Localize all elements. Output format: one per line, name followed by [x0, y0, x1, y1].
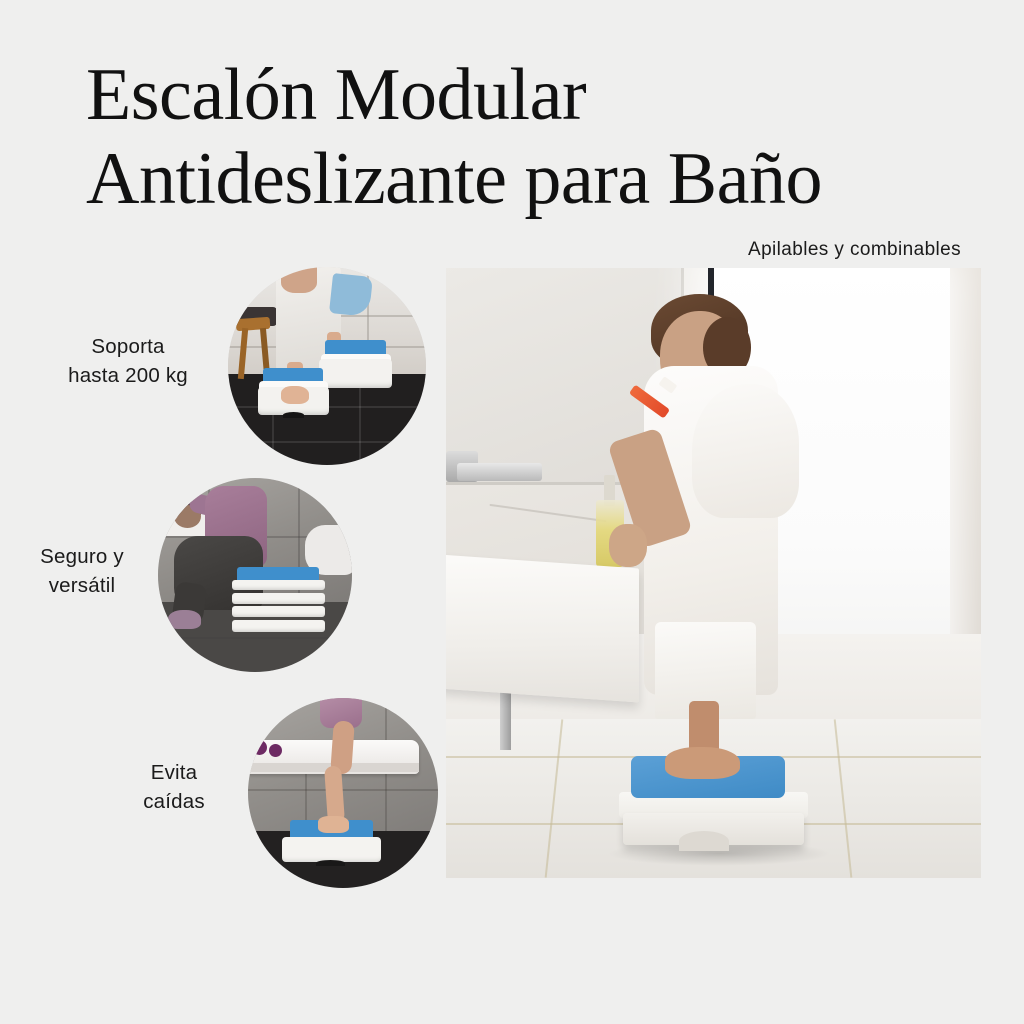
purple-candle [252, 740, 267, 755]
stacked-step-unit [232, 567, 325, 637]
step-base [319, 359, 392, 388]
chrome-faucet [457, 463, 543, 481]
poster-canvas: Escalón Modular Antideslizante para Baño… [0, 0, 1024, 1024]
tagline-apilables: Apilables y combinables [748, 239, 961, 261]
feature-label-evita: Evita caídas [104, 758, 244, 816]
feature-label-seguro: Seguro y versátil [12, 542, 152, 600]
thumb-scene-seated-stack [158, 478, 352, 672]
purple-candle [269, 744, 282, 757]
step-notch [316, 860, 346, 866]
floor-grout-line [228, 441, 426, 443]
child-foot [665, 747, 740, 779]
hero-photo-child-on-step [446, 268, 981, 878]
person-foot [281, 386, 309, 404]
step-notch [283, 412, 304, 418]
person-hand [281, 267, 317, 293]
floor-grout-line [158, 637, 352, 639]
bathrobe-hood [692, 384, 799, 518]
step-tier [232, 606, 325, 616]
feature-thumbnail-seated-stack [158, 478, 352, 672]
thumb-scene-step-into-tub [248, 698, 438, 888]
person-foot [318, 816, 348, 833]
step-notch [679, 831, 729, 852]
child-hand [609, 524, 646, 567]
step-stool-back [319, 338, 392, 389]
vanity-sink [446, 553, 639, 702]
feature-label-soporta: Soporta hasta 200 kg [52, 332, 204, 390]
step-tier [232, 593, 325, 603]
feature-thumbnail-two-steps [228, 267, 426, 465]
feature-thumbnail-step-into-tub [248, 698, 438, 888]
page-title: Escalón Modular Antideslizante para Baño [86, 54, 966, 221]
thumb-scene-two-steps [228, 267, 426, 465]
step-base [282, 837, 381, 863]
wall-grout-line [248, 789, 438, 791]
step-tier [232, 620, 325, 633]
person-slipper [168, 610, 201, 629]
step-tier [232, 580, 325, 590]
